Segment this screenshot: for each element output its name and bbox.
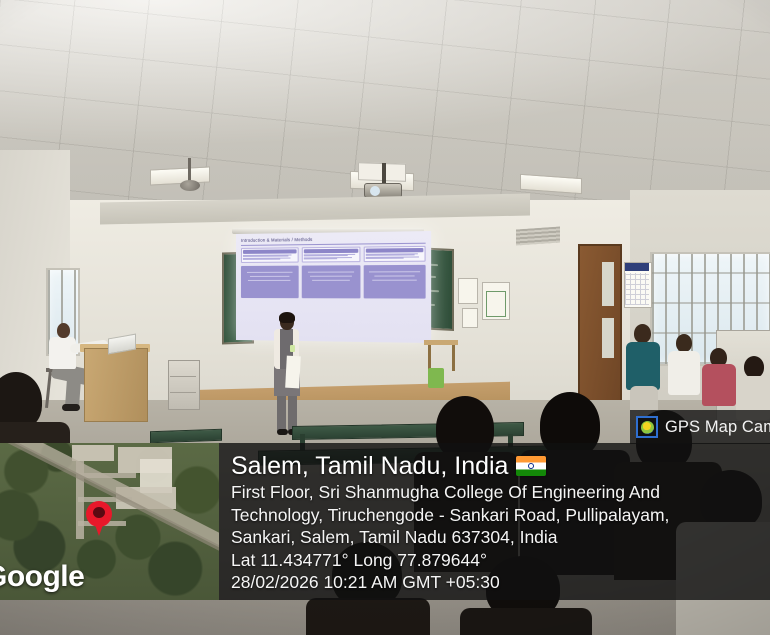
slide-card [301, 247, 360, 263]
gps-map-camera-badge[interactable]: GPS Map Cam [630, 410, 770, 444]
presentation-slide: Introduction & Materials / Methods [236, 231, 431, 343]
presenter-shoe-left [277, 429, 288, 435]
audience-body [668, 351, 700, 395]
location-title: Salem, Tamil Nadu, India [231, 451, 508, 481]
cabinet-seam [170, 376, 196, 377]
door-glass-upper [602, 262, 614, 306]
presenter-id-badge [290, 345, 295, 352]
audience-head [634, 324, 651, 343]
google-watermark: Google [0, 560, 84, 594]
location-title-row: Salem, Tamil Nadu, India [231, 451, 770, 481]
gps-logo-glyph [641, 421, 654, 434]
address-line-1: First Floor, Sri Shanmugha College Of En… [231, 481, 770, 504]
small-table-leg [452, 345, 455, 371]
location-pin-dot [93, 507, 105, 518]
map-building [72, 445, 114, 461]
ashoka-chakra-icon [528, 463, 534, 469]
slide-block-row [239, 262, 428, 299]
presenter-hair [279, 312, 295, 323]
classroom-door [578, 244, 622, 408]
slide-card-heading [303, 249, 358, 254]
slide-card-heading [366, 248, 423, 253]
ceiling-fan-hub [180, 180, 200, 191]
screenshot-root: Introduction & Materials / Methods [0, 0, 770, 635]
wall-calendar-grid [625, 273, 649, 305]
audience-body [702, 364, 736, 406]
operator-torso [49, 337, 76, 369]
slide-card-heading [243, 249, 296, 254]
presenter-papers [285, 356, 301, 389]
projection-screen: Introduction & Materials / Methods [236, 231, 431, 343]
desk-left [150, 429, 222, 444]
podium [84, 348, 148, 422]
wall-notice-small [458, 278, 478, 304]
slide-card [364, 246, 426, 262]
door-glass-lower [602, 318, 614, 358]
timestamp: 28/02/2026 10:21 AM GMT +05:30 [231, 571, 770, 594]
projector-mount [382, 163, 386, 185]
side-cabinet-left [168, 360, 200, 410]
projector-lens [370, 186, 380, 196]
wall-vent [516, 226, 560, 245]
ceiling-fan-rod [188, 158, 191, 182]
foreground-person-body-5 [306, 598, 430, 635]
cabinet-seam [170, 392, 196, 393]
address-line-3: Sankari, Salem, Tamil Nadu 637304, India [231, 526, 770, 549]
address-line-2: Technology, Tiruchengode - Sankari Road,… [231, 504, 770, 527]
india-flag-icon [516, 456, 546, 476]
location-pin-icon [86, 501, 112, 527]
audience-body [626, 342, 660, 390]
slide-card [241, 247, 298, 263]
wall-notice-framed [482, 282, 510, 320]
audience-head [744, 356, 764, 378]
location-info-panel: Salem, Tamil Nadu, India First Floor, Sr… [219, 443, 770, 600]
slide-block [241, 266, 298, 299]
slide-block [301, 265, 360, 298]
operator-head [57, 323, 70, 338]
wall-notice-inner [486, 291, 506, 317]
coordinates: Lat 11.434771° Long 77.879644° [231, 549, 770, 572]
audience-head [676, 334, 692, 352]
wall-notice-small-2 [462, 308, 478, 328]
map-thumbnail[interactable]: Google [0, 443, 219, 600]
wall-calendar-header [625, 263, 649, 271]
operator-shoe [62, 404, 80, 411]
slide-card-row [239, 246, 428, 263]
slide-block [364, 265, 426, 299]
foreground-person-body-6 [460, 608, 592, 635]
waste-bin [428, 368, 444, 388]
gps-badge-label: GPS Map Cam [665, 418, 770, 437]
gps-map-camera-logo-icon [636, 416, 658, 438]
